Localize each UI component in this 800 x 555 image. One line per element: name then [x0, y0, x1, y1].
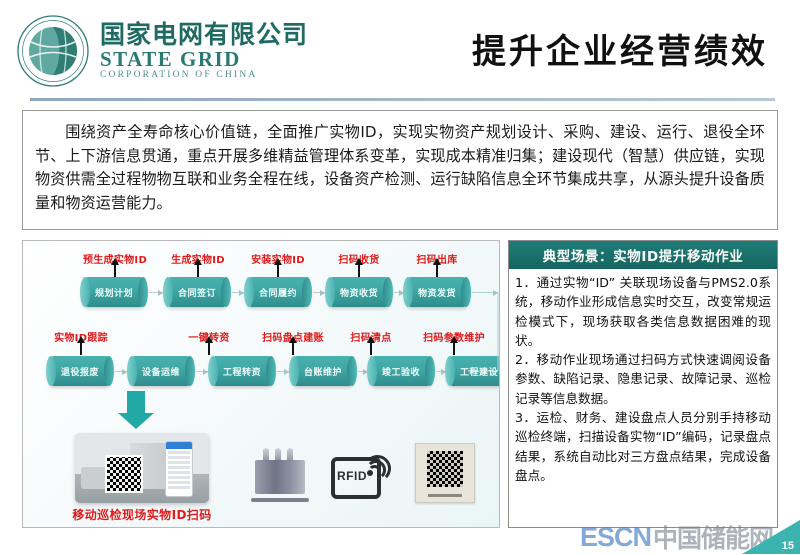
arrow-up-r2-4: [292, 342, 294, 355]
scenario-header: 典型场景：实物ID提升移动作业: [509, 241, 777, 269]
connector-r2-1: [115, 371, 127, 372]
slide-header: 国家电网有限公司 STATE GRID CORPORATION OF CHINA…: [0, 0, 800, 100]
arrow-up-r1-1: [114, 264, 116, 277]
flow-node-规划计划[interactable]: 规划计划: [81, 277, 147, 307]
flow-node-合同履约[interactable]: 合同履约: [245, 277, 311, 307]
flow-node-工程转资[interactable]: 工程转资: [209, 356, 275, 386]
phone-row: [168, 451, 190, 454]
arrow-up-r2-5: [370, 342, 372, 355]
rfid-label: RFID: [337, 469, 367, 483]
down-arrow-icon: [127, 391, 145, 413]
flow-node-label: 合同履约: [259, 286, 297, 299]
slide-root: 国家电网有限公司 STATE GRID CORPORATION OF CHINA…: [0, 0, 800, 554]
transformer-body: [255, 460, 305, 494]
scenario-item-3: 3．运检、财务、建设盘点人员分别手持移动巡检终端，扫描设备实物“ID”编码，记录…: [515, 408, 771, 485]
phone-row: [168, 471, 190, 474]
scenario-body: 1．通过实物“ID” 关联现场设备与PMS2.0系统，移动作业形成信息实时交互，…: [509, 269, 777, 489]
rfid-dot: [367, 470, 373, 476]
flow-node-label: 工程建设: [460, 365, 498, 378]
flow-row-1: 规划计划 合同签订 合同履约 物资收货 物资发货: [23, 277, 500, 311]
phone-row: [168, 461, 190, 464]
arrow-up-r2-1: [80, 342, 82, 355]
flow-node-label: 工程转资: [223, 365, 261, 378]
mobile-terminal-screen: [165, 441, 193, 497]
flow-node-label: 物资收货: [340, 286, 378, 299]
watermark-en: ESCN: [580, 522, 651, 553]
flow-node-设备运维[interactable]: 设备运维: [128, 356, 194, 386]
page-number: 15: [782, 540, 794, 552]
logo-english-name: STATE GRID: [100, 49, 308, 70]
flow-row-2: 退役报废 设备运维 工程转资 台账维护 竣工验收 工程建设: [23, 356, 500, 390]
inspection-photo: [75, 433, 209, 503]
phone-row: [168, 486, 190, 489]
page-title: 提升企业经营绩效: [472, 24, 768, 73]
flow-node-竣工验收[interactable]: 竣工验收: [368, 356, 434, 386]
photo-caption: 移动巡检现场实物ID扫码: [52, 506, 232, 523]
arrow-up-r2-3: [208, 342, 210, 355]
scenario-panel: 典型场景：实物ID提升移动作业 1．通过实物“ID” 关联现场设备与PMS2.0…: [508, 240, 778, 528]
flow-node-label: 规划计划: [95, 286, 133, 299]
flow-node-退役报废[interactable]: 退役报废: [47, 356, 113, 386]
connector-r1-1: [149, 292, 163, 293]
flow-node-台账维护[interactable]: 台账维护: [290, 356, 356, 386]
lower-content: 预生成实物ID 生成实物ID 安装实物ID 扫码收货 扫码出库 规划计划 合同签…: [22, 240, 778, 532]
connector-r2-2: [196, 371, 208, 372]
phone-appbar: [166, 442, 192, 449]
asset-qr-plate: [415, 443, 475, 503]
arrow-up-r1-4: [358, 264, 360, 277]
flow-node-物资收货[interactable]: 物资收货: [326, 277, 392, 307]
connector-r2-3: [277, 371, 289, 372]
flow-node-合同签订[interactable]: 合同签订: [164, 277, 230, 307]
scenario-header-label: 典型场景：实物ID提升移动作业: [543, 245, 744, 265]
transformer-base: [251, 498, 309, 502]
qr-code-icon: [105, 455, 143, 493]
transformer-illustration: [249, 446, 311, 502]
connector-r1-3: [313, 292, 325, 293]
scenario-item-2: 2．移动作业现场通过扫码方式快速调阅设备参数、缺陷记录、隐患记录、故障记录、巡检…: [515, 350, 771, 408]
phone-row: [168, 481, 190, 484]
phone-row: [168, 466, 190, 469]
logo-english-subtitle: CORPORATION OF CHINA: [100, 71, 308, 81]
watermark: ESCN 中国储能网: [580, 519, 773, 555]
arrow-up-r1-5: [436, 264, 438, 277]
arrow-up-r1-2: [197, 264, 199, 277]
rfid-icon: RFID: [331, 453, 387, 495]
summary-paragraph: 围绕资产全寿命核心价值链，全面推广实物ID，实现实物资产规划设计、采购、建设、运…: [35, 121, 765, 215]
scenario-item-1: 1．通过实物“ID” 关联现场设备与PMS2.0系统，移动作业形成信息实时交互，…: [515, 273, 771, 350]
logo-chinese-name: 国家电网有限公司: [100, 22, 308, 47]
lifecycle-diagram-panel: 预生成实物ID 生成实物ID 安装实物ID 扫码收货 扫码出库 规划计划 合同签…: [22, 240, 500, 528]
connector-r1-2: [232, 292, 244, 293]
arrow-up-r1-3: [277, 264, 279, 277]
flow-node-label: 物资发货: [418, 286, 456, 299]
arrow-up-r2-6: [453, 342, 455, 355]
flow-node-label: 合同签订: [178, 286, 216, 299]
state-grid-emblem-icon: [14, 12, 92, 90]
summary-textbox: 围绕资产全寿命核心价值链，全面推广实物ID，实现实物资产规划设计、采购、建设、运…: [22, 110, 778, 230]
state-grid-logo: 国家电网有限公司 STATE GRID CORPORATION OF CHINA: [14, 12, 308, 90]
flow-node-label: 竣工验收: [382, 365, 420, 378]
flow-node-label: 台账维护: [304, 365, 342, 378]
header-divider: [30, 98, 775, 101]
flow-node-物资发货[interactable]: 物资发货: [404, 277, 470, 307]
phone-row: [168, 456, 190, 459]
phone-row: [168, 476, 190, 479]
flow-node-label: 设备运维: [142, 365, 180, 378]
flow-node-label: 退役报废: [61, 365, 99, 378]
